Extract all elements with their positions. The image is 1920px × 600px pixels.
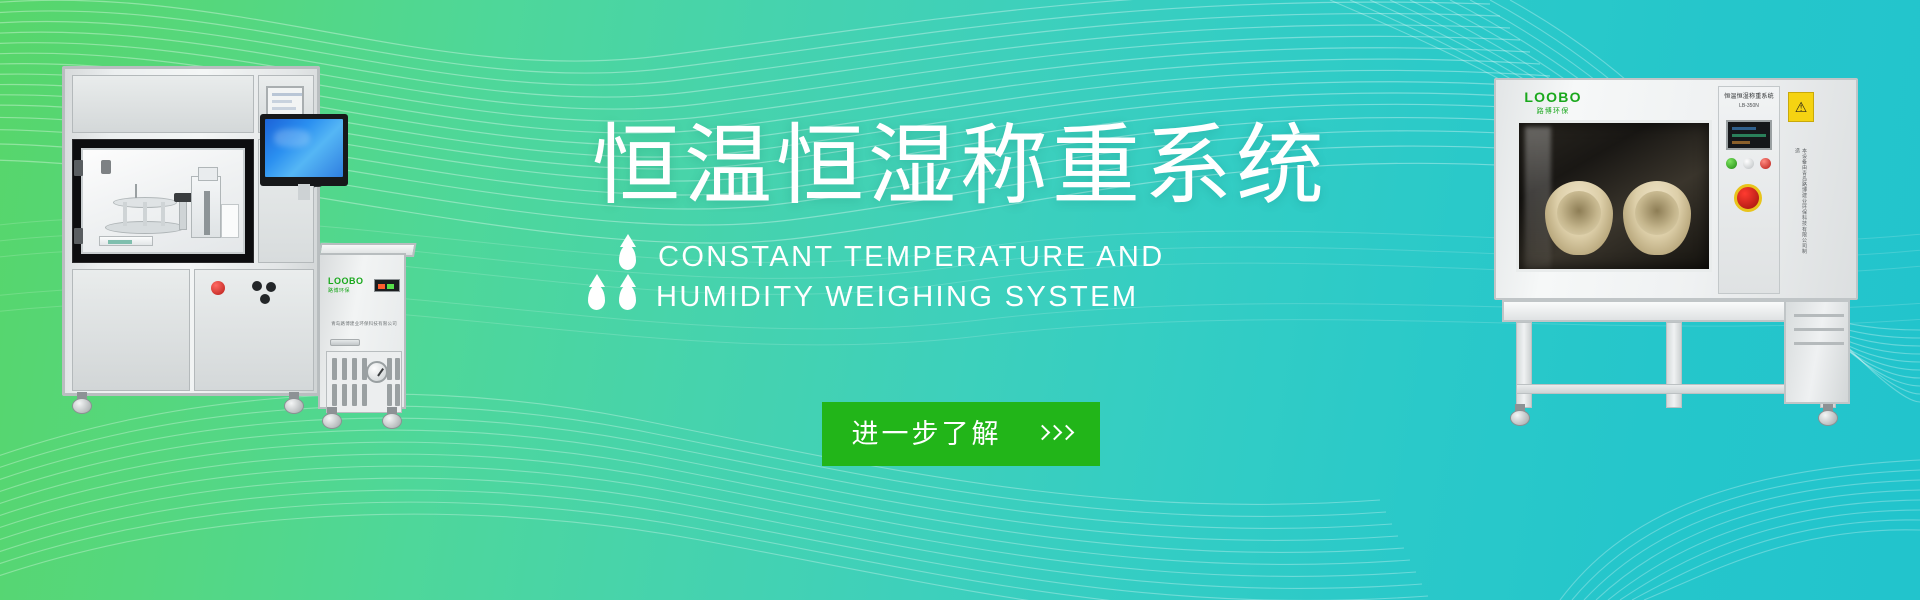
robotic-arm: [179, 200, 187, 230]
cabinet-hmi-display: [1726, 120, 1772, 150]
water-drop-icon: [588, 285, 605, 310]
chamber-bottom-panel-left: [72, 269, 190, 391]
loobo-logo-cn: 路博环保: [328, 287, 368, 294]
door-hinge-top: [74, 160, 83, 176]
water-drop-icon: [619, 285, 636, 310]
glove-box-window: [1516, 120, 1712, 272]
panel-title: 恒温恒湿称重系统: [1724, 94, 1774, 102]
caster-wheel: [322, 407, 342, 429]
touchscreen-monitor[interactable]: [260, 114, 348, 186]
caster-wheel: [284, 392, 304, 414]
caster-wheel: [382, 407, 402, 429]
chamber-hmi-display: [266, 86, 304, 117]
cabinet-push-buttons[interactable]: [1726, 158, 1772, 174]
chiller-unit: LOOBO 路博环保 青岛路博建业环保科技有限公司: [318, 243, 414, 419]
triple-chevron-right-icon: [1036, 425, 1071, 443]
analytical-balance: [99, 236, 153, 246]
caster-wheel: [1510, 404, 1530, 426]
page-title: 恒温恒湿称重系统: [560, 120, 1360, 212]
cabinet-side-text: 本设备由青岛路博建业环保科技有限公司制造: [1796, 148, 1808, 258]
door-hinge-bottom: [74, 228, 83, 244]
banner-copy: 恒温恒湿称重系统 CONSTANT TEMPERATURE AND HUMIDI…: [560, 120, 1360, 318]
panel-model: LB-350N: [1724, 103, 1774, 109]
chiller-body: LOOBO 路博环保 青岛路博建业环保科技有限公司: [318, 253, 406, 409]
interior-sensor: [101, 160, 111, 174]
caster-wheel: [72, 392, 92, 414]
monitor-screen: [265, 119, 343, 177]
chiller-vent-grille: [326, 351, 402, 413]
caster-wheel: [1818, 404, 1838, 426]
hero-banner: LOOBO 路博环保 青岛路博建业环保科技有限公司 恒温恒湿称重系统: [0, 0, 1920, 600]
warning-triangle-icon: ⚠: [1788, 92, 1814, 122]
cabinet-lower-panel-box: [1784, 300, 1850, 404]
loobo-logo: LOOBO 路博环保: [328, 277, 368, 295]
loobo-logo-text: LOOBO: [328, 277, 368, 286]
drop-icons-row-1: [560, 245, 656, 270]
loobo-logo-text: LOOBO: [1516, 90, 1590, 104]
glove-box-machine: LOOBO 路博环保 恒温恒湿称重系统 LB-350N ⚠ 本设备由青岛路博建业…: [1494, 78, 1858, 426]
learn-more-button[interactable]: 进一步了解: [822, 402, 1100, 466]
subtitle-row-2: HUMIDITY WEIGHING SYSTEM: [560, 278, 1360, 318]
chiller-display: [374, 279, 400, 292]
chamber-window-frame: [72, 139, 254, 263]
panel-nameplate: 恒温恒湿称重系统 LB-350N: [1724, 94, 1774, 109]
sample-carousel: [105, 188, 185, 234]
glove-port-right: [1623, 181, 1691, 255]
chamber-glass-door: [81, 148, 245, 254]
chiller-handle[interactable]: [330, 339, 360, 346]
loobo-logo-cn: 路博环保: [1516, 106, 1590, 116]
emergency-stop-button[interactable]: [1734, 184, 1762, 212]
water-drop-icon: [619, 245, 636, 270]
connector-ports: [252, 281, 278, 305]
glove-port-left: [1545, 181, 1613, 255]
chiller-company-text: 青岛路博建业环保科技有限公司: [326, 321, 402, 327]
subtitle-line-1: CONSTANT TEMPERATURE AND: [656, 243, 1165, 272]
cabinet-body: LOOBO 路博环保 恒温恒湿称重系统 LB-350N ⚠ 本设备由青岛路博建业…: [1494, 78, 1858, 300]
interior-control-box: [221, 204, 239, 238]
monitor-mount: [298, 184, 310, 200]
subtitle-block: CONSTANT TEMPERATURE AND HUMIDITY WEIGHI…: [560, 238, 1360, 318]
pressure-gauge: [366, 361, 388, 383]
emergency-stop-button[interactable]: [211, 281, 225, 295]
drop-icons-row-2: [560, 285, 656, 310]
loobo-logo: LOOBO 路博环保: [1516, 90, 1590, 114]
chamber-top-panel-left: [72, 75, 254, 133]
learn-more-label: 进一步了解: [852, 421, 1002, 448]
subtitle-row-1: CONSTANT TEMPERATURE AND: [560, 238, 1360, 278]
linear-actuator: [191, 176, 221, 238]
subtitle-line-2: HUMIDITY WEIGHING SYSTEM: [656, 283, 1138, 312]
